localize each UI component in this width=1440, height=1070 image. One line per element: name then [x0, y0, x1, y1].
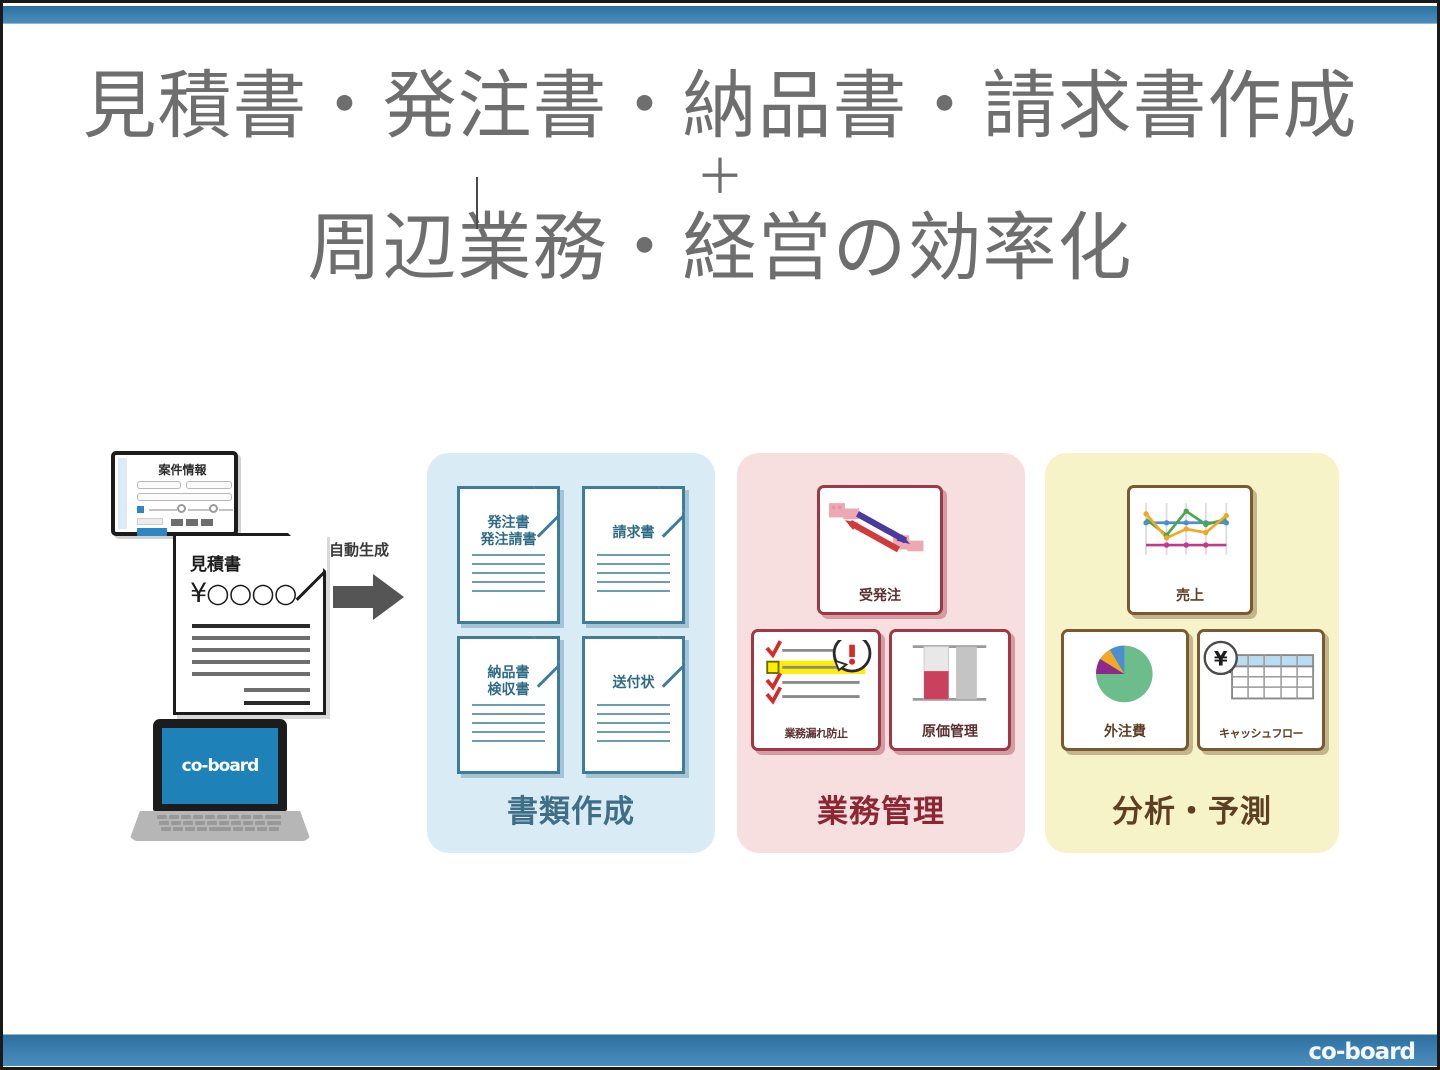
cost-management-tile: 原価管理 — [889, 629, 1011, 751]
doc-lines — [597, 704, 670, 749]
slide-title-block: 見積書・発注書・納品書・請求書作成 ＋ 周辺業務・経営の効率化 — [3, 61, 1437, 293]
form-slider-track-3 — [219, 509, 233, 511]
page-fold-edge — [296, 570, 326, 600]
auto-generate-label: 自動生成 — [329, 539, 389, 560]
quotation-document: 見積書 ¥○○○○ — [173, 533, 326, 715]
doc-label: 請求書 — [589, 525, 678, 542]
text-cursor-caret — [476, 177, 478, 229]
coboard-logo-on-screen: co-board — [162, 756, 278, 776]
panel-analysis-forecast: 売上 外注費 — [1045, 453, 1339, 853]
laptop-lid: co-board — [153, 719, 287, 811]
doc-lines — [472, 704, 545, 749]
panel-title-operations-management: 業務管理 — [737, 786, 1025, 831]
title-line-2: 周辺業務・経営の効率化 — [3, 203, 1437, 293]
purchase-order-doc: 発注書 発注請書 — [457, 486, 560, 624]
sales-tile: 売上 — [1127, 485, 1253, 615]
form-slider-track-2 — [188, 509, 210, 511]
page-fold — [658, 486, 685, 513]
doc-lines — [597, 554, 670, 599]
doc-line — [192, 648, 310, 652]
checklist-alert-icon — [754, 640, 877, 706]
doc-lines — [472, 554, 545, 599]
order-management-tile: 受発注 — [817, 485, 943, 615]
order-exchange-icon — [820, 496, 932, 562]
outsourcing-pie-chart-icon — [1064, 640, 1185, 706]
invoice-doc: 請求書 — [582, 486, 685, 624]
form-field-1 — [137, 481, 181, 489]
task-omission-prevention-tile: 業務漏れ防止 — [751, 629, 881, 751]
form-submit-button — [137, 528, 167, 536]
title-line-1: 見積書・発注書・納品書・請求書作成 — [3, 61, 1437, 151]
title-plus-symbol: ＋ — [3, 151, 1437, 203]
tile-label: 売上 — [1132, 585, 1248, 605]
page-fold — [533, 486, 560, 513]
workflow-illustration: 案件情報 見積書 ¥○○○○ — [111, 443, 431, 883]
tile-label: 原価管理 — [894, 721, 1006, 741]
form-slider-knob-1 — [177, 504, 186, 513]
top-accent-bar — [3, 6, 1437, 24]
laptop-screen: co-board — [162, 728, 278, 804]
form-slider-track-1 — [149, 509, 177, 511]
project-information-form: 案件情報 — [111, 451, 238, 536]
doc-line — [192, 624, 310, 628]
cover-letter-doc: 送付状 — [582, 636, 685, 774]
coboard-brand-logo: co-board — [1308, 1037, 1415, 1067]
presentation-slide: 見積書・発注書・納品書・請求書作成 ＋ 周辺業務・経営の効率化 案件情報 — [0, 0, 1440, 1070]
panel-title-analysis-forecast: 分析・予測 — [1045, 786, 1339, 831]
auto-generate-arrow-icon — [333, 573, 405, 621]
form-field-3 — [137, 493, 232, 501]
tile-label: キャッシュフロー — [1202, 725, 1320, 741]
doc-label: 納品書 検収書 — [464, 665, 553, 699]
form-field-4 — [137, 518, 163, 525]
doc-line — [192, 672, 310, 676]
sales-line-chart-icon — [1130, 496, 1242, 562]
form-slider-knob-2 — [209, 504, 218, 513]
form-chip-group — [171, 519, 213, 526]
bottom-accent-bar — [3, 1034, 1437, 1066]
tile-label: 受発注 — [822, 585, 938, 605]
cash-flow-table-icon: ¥ — [1200, 640, 1321, 706]
cash-flow-tile: ¥ キャッシュフロー — [1197, 629, 1325, 751]
panel-title-document-creation: 書類作成 — [427, 786, 715, 831]
form-radio-selected — [137, 506, 144, 513]
page-fold-cut — [287, 532, 327, 572]
doc-line — [192, 636, 310, 640]
outsourcing-cost-tile: 外注費 — [1061, 629, 1189, 751]
form-field-2 — [186, 481, 232, 489]
tile-label: 外注費 — [1066, 721, 1184, 741]
doc-line — [244, 688, 310, 692]
form-sidebar — [118, 458, 127, 529]
svg-text:¥: ¥ — [1214, 647, 1228, 670]
page-fold — [533, 636, 560, 663]
doc-label: 送付状 — [589, 675, 678, 692]
tile-label: 業務漏れ防止 — [756, 725, 876, 741]
doc-line — [244, 701, 310, 705]
page-fold — [658, 636, 685, 663]
quotation-title: 見積書 — [190, 550, 241, 575]
doc-label: 発注書 発注請書 — [464, 515, 553, 549]
panel-document-creation: 発注書 発注請書 請求書 納品書 検収書 送付状 書類作成 — [427, 453, 715, 853]
quotation-amount: ¥○○○○ — [190, 578, 296, 609]
cost-bar-chart-icon — [892, 640, 1007, 706]
delivery-note-doc: 納品書 検収書 — [457, 636, 560, 774]
laptop-keyboard — [155, 814, 285, 836]
laptop-illustration: co-board — [129, 719, 311, 851]
doc-line — [192, 660, 310, 664]
panel-operations-management: 受発注 — [737, 453, 1025, 853]
form-heading: 案件情報 — [137, 461, 228, 478]
